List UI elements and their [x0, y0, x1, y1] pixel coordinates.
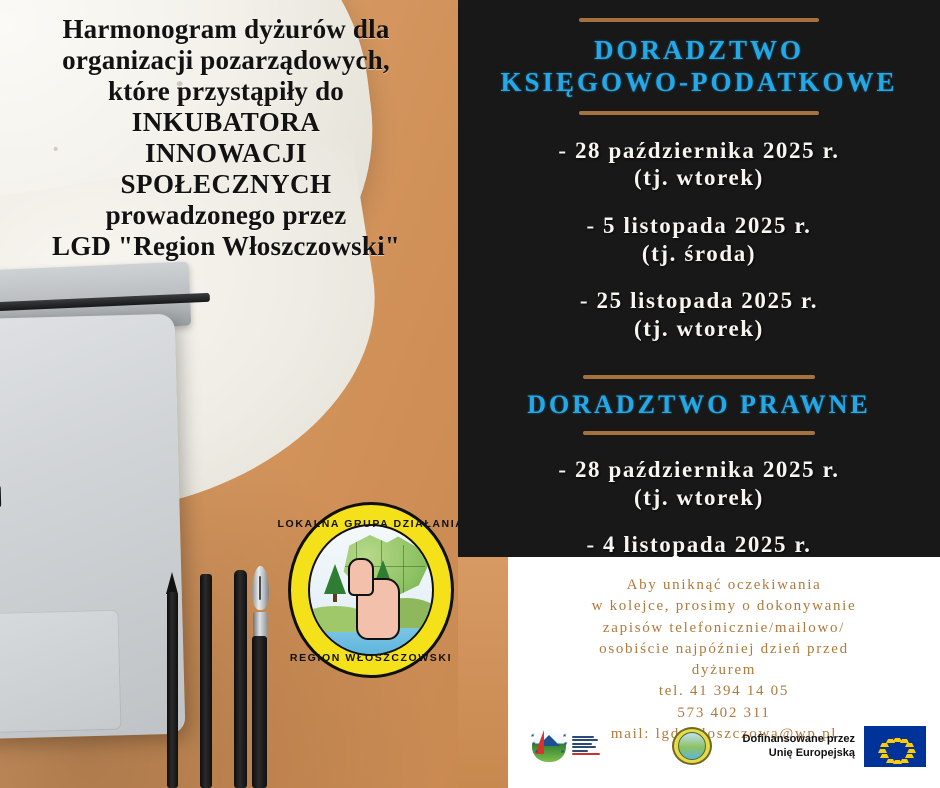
schedule-panel: DORADZTWO KSIĘGOWO-PODATKOWE - 28 paździ… [458, 0, 940, 557]
section-rule-bottom [583, 431, 815, 435]
section-title-line-2: KSIĘGOWO-PODATKOWE [500, 67, 897, 97]
footer-logos: ★ ★ ★ ★ ★ ★ Dofinansowane przez Unię Eur… [508, 724, 940, 770]
info-line-3: zapisów telefonicznie/mailowo/ [522, 618, 926, 639]
laptop-trackpad [0, 610, 122, 735]
section-rule-bottom [579, 111, 819, 115]
section-accounting: DORADZTWO KSIĘGOWO-PODATKOWE - 28 paździ… [458, 18, 940, 342]
date-text: - 5 listopada 2025 r. [586, 213, 811, 238]
prow-emblem-icon: ★ ★ ★ ★ ★ ★ [530, 726, 570, 766]
date-text: - 25 listopada 2025 r. [580, 288, 818, 313]
section-title-accounting: DORADZTWO KSIĘGOWO-PODATKOWE [458, 35, 940, 99]
orange-strip [458, 557, 508, 788]
date-day: (tj. wtorek) [458, 484, 940, 512]
date-entry: - 5 listopada 2025 r. (tj. środa) [458, 212, 940, 267]
info-line-1: Aby uniknąć oczekiwania [522, 575, 926, 596]
date-text: - 28 października 2025 r. [558, 138, 839, 163]
info-line-2: w kolejce, prosimy o dokonywanie [522, 596, 926, 617]
lgd-logo-top-text: LOKALNA GRUPA DZIAŁANIA [278, 518, 458, 530]
date-entry: - 25 listopada 2025 r. (tj. wtorek) [458, 287, 940, 342]
section-rule-top [583, 375, 815, 379]
section-title-line-1: DORADZTWO PRAWNE [527, 390, 870, 419]
prow-logo: ★ ★ ★ ★ ★ ★ [530, 724, 604, 768]
eu-flag-icon [864, 726, 926, 767]
section-title-line-1: DORADZTWO [594, 35, 804, 65]
eu-funding-text: Dofinansowane przez Unię Europejską [743, 732, 855, 760]
date-day: (tj. wtorek) [458, 315, 940, 343]
prow-logo-caption [572, 736, 600, 757]
headline-line-4: INKUBATORA [0, 107, 452, 138]
headline-line-6: SPOŁECZNYCH [0, 169, 452, 200]
lgd-footer-logo [672, 727, 712, 765]
laptop-keyboard: -_ += {[ }] |\ :; "' ?/ ◀ ▲ ▼ ▶ [0, 326, 171, 594]
headline-line-8: LGD "Region Włoszczowski" [0, 231, 452, 262]
photo-panel: -_ += {[ }] |\ :; "' ?/ ◀ ▲ ▼ ▶ [0, 0, 458, 788]
date-entry: - 28 października 2025 r. (tj. wtorek) [458, 456, 940, 511]
headline-line-7: prowadzonego przez [0, 200, 452, 231]
section-legal: DORADZTWO PRAWNE - 28 października 2025 … [458, 375, 940, 586]
date-text: - 4 listopada 2025 r. [586, 532, 811, 557]
lgd-circular-logo: LOKALNA GRUPA DZIAŁANIA REGION WŁOSZCZOW… [288, 502, 454, 678]
section-rule-top [579, 18, 819, 22]
lgd-logo-bottom-text: REGION WŁOSZCZOWSKI [290, 652, 452, 664]
date-day: (tj. wtorek) [458, 164, 940, 192]
date-text: - 28 października 2025 r. [558, 457, 839, 482]
phone-primary[interactable]: tel. 41 394 14 05 [522, 681, 926, 702]
eu-funding-logo: Dofinansowane przez Unię Europejską [743, 724, 926, 768]
date-day: (tj. środa) [458, 240, 940, 268]
headline-line-3: które przystąpiły do [0, 76, 452, 107]
headline-line-2: organizacji pozarządowych, [0, 45, 452, 76]
page-title: Harmonogram dyżurów dla organizacji poza… [0, 14, 452, 262]
headline-line-1: Harmonogram dyżurów dla [0, 14, 452, 45]
contact-panel: Aby uniknąć oczekiwania w kolejce, prosi… [508, 557, 940, 788]
info-line-5: dyżurem [522, 660, 926, 681]
headline-line-5: INNOWACJI [0, 138, 452, 169]
contact-info: Aby uniknąć oczekiwania w kolejce, prosi… [508, 557, 940, 745]
info-line-4: osobiście najpóźniej dzień przed [522, 639, 926, 660]
poster-root: -_ += {[ }] |\ :; "' ?/ ◀ ▲ ▼ ▶ [0, 0, 940, 788]
phone-secondary[interactable]: 573 402 311 [522, 703, 926, 724]
lgd-logo-text: LOKALNA GRUPA DZIAŁANIA REGION WŁOSZCZOW… [288, 502, 454, 678]
section-title-legal: DORADZTWO PRAWNE [458, 390, 940, 421]
date-entry: - 28 października 2025 r. (tj. wtorek) [458, 137, 940, 192]
